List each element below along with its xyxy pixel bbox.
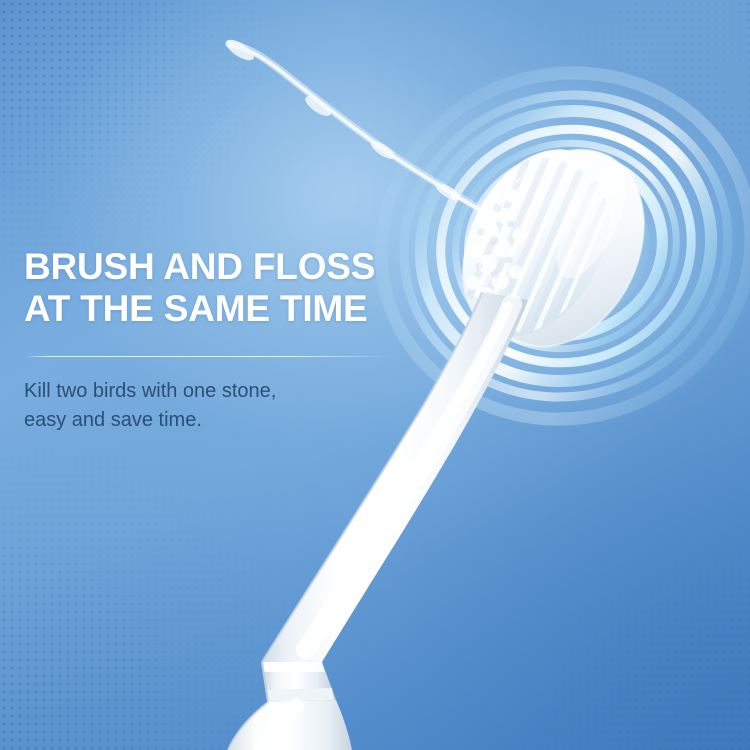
subcopy: Kill two birds with one stone, easy and … (24, 377, 404, 435)
handle-base (228, 700, 352, 750)
headline: BRUSH AND FLOSS AT THE SAME TIME (24, 246, 404, 330)
product-banner: BRUSH AND FLOSS AT THE SAME TIME Kill tw… (0, 0, 750, 750)
copy-block: BRUSH AND FLOSS AT THE SAME TIME Kill tw… (24, 246, 404, 435)
handle-collar (262, 662, 336, 702)
divider (24, 356, 394, 357)
